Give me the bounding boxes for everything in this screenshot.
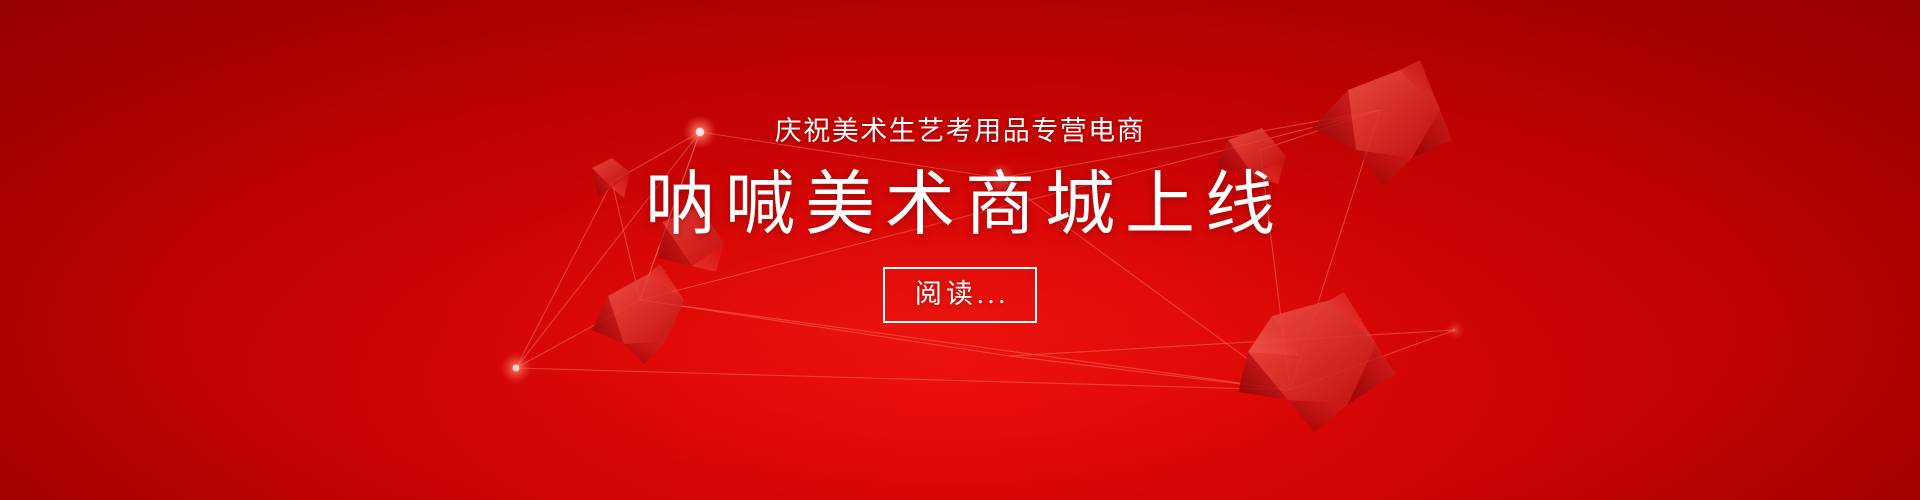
banner-subtitle: 庆祝美术生艺考用品专营电商 [775, 118, 1146, 145]
cta-wrapper: 阅读... [883, 267, 1037, 323]
promo-banner: 庆祝美术生艺考用品专营电商 呐喊美术商城上线 阅读... [0, 0, 1920, 500]
banner-headline: 呐喊美术商城上线 [635, 171, 1285, 241]
banner-content: 庆祝美术生艺考用品专营电商 呐喊美术商城上线 阅读... [0, 0, 1920, 500]
read-more-button[interactable]: 阅读... [883, 267, 1037, 323]
